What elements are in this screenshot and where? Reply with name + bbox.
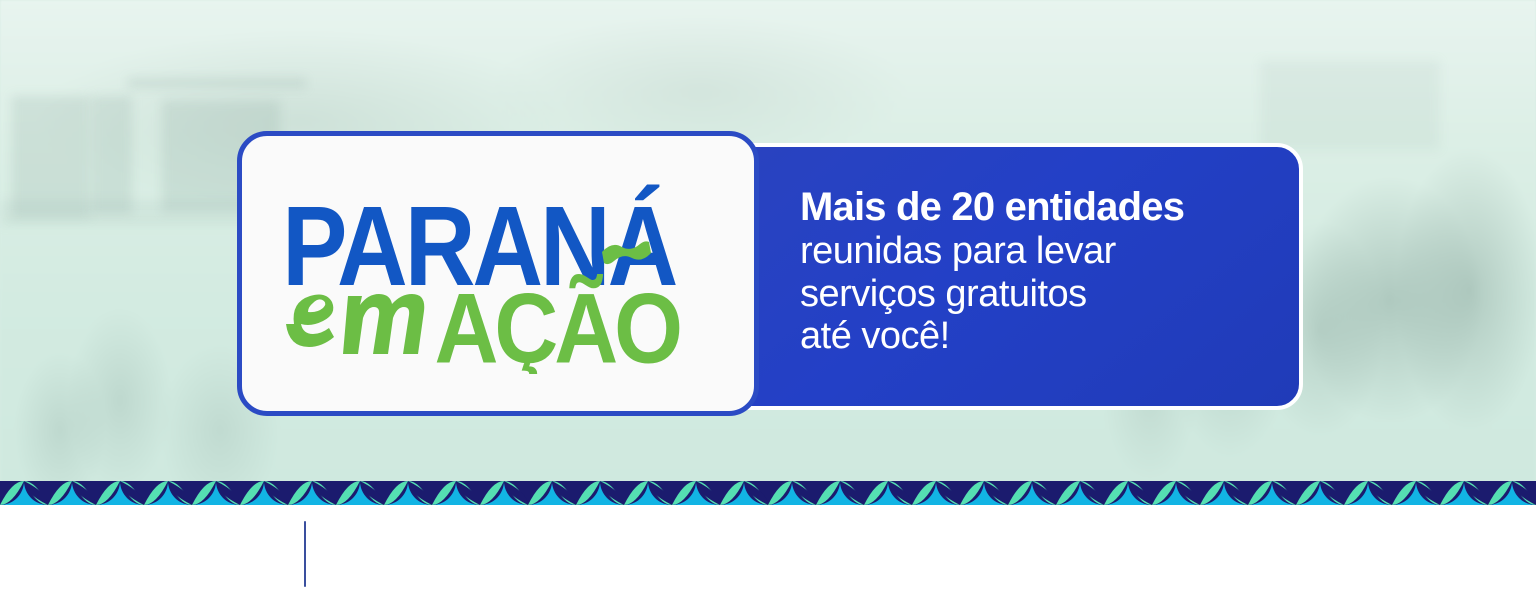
- panel-line-2: reunidas para levar: [800, 230, 1299, 273]
- svg-text:AÇÃO: AÇÃO: [435, 273, 681, 374]
- partner-logo-row: PREFEITURA FOZ Cidade que inspira e trab…: [0, 505, 1536, 614]
- panel-line-3: serviços gratuitos: [800, 273, 1299, 316]
- background-shape: [92, 96, 132, 214]
- parana-em-acao-logo: PARANÁ AÇÃO: [278, 174, 718, 374]
- panel-line-4: até você!: [800, 315, 1299, 358]
- panel-line-1: Mais de 20 entidades: [800, 187, 1299, 227]
- logo-card: PARANÁ AÇÃO: [237, 131, 759, 416]
- message-panel: Mais de 20 entidades reunidas para levar…: [700, 143, 1303, 410]
- decorative-leaf-band: [0, 481, 1536, 505]
- background-shape: [128, 78, 306, 88]
- background-shape: [1260, 60, 1440, 150]
